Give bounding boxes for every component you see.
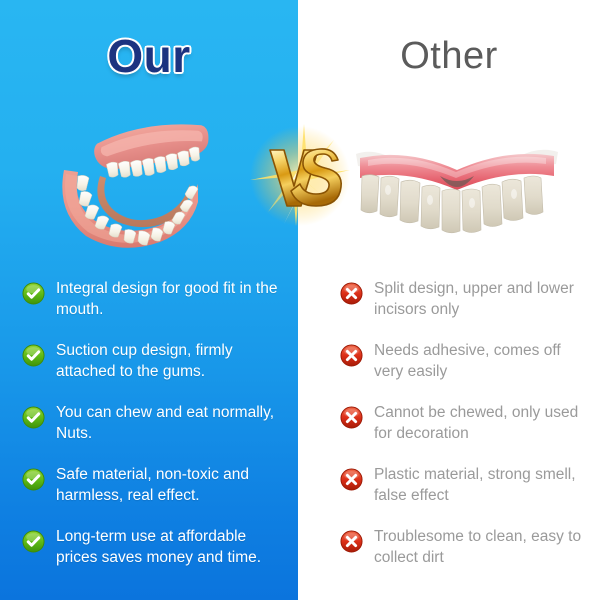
green-check-circle-icon [22,282,45,305]
list-item: Plastic material, strong smell, false ef… [340,458,588,520]
title-our: Our [107,29,190,83]
product-area-our [0,112,298,262]
green-check-circle-icon [22,530,45,553]
panel-our: Our [0,0,298,600]
full-denture-image [38,114,253,254]
green-check-circle-icon [22,468,45,491]
list-item-label: Cannot be chewed, only used for decorati… [374,396,588,444]
list-item: Safe material, non-toxic and harmless, r… [22,458,284,520]
red-cross-circle-icon [340,406,363,429]
list-item: Needs adhesive, comes off very easily [340,334,588,396]
green-check-circle-icon [22,344,45,367]
red-cross-circle-icon [340,530,363,553]
list-item-label: You can chew and eat normally, Nuts. [56,396,284,444]
list-item-label: Troublesome to clean, easy to collect di… [374,520,588,568]
list-item-label: Integral design for good fit in the mout… [56,272,284,320]
list-item-label: Suction cup design, firmly attached to t… [56,334,284,382]
list-item-label: Long-term use at affordable prices saves… [56,520,284,568]
list-item-label: Plastic material, strong smell, false ef… [374,458,588,506]
comparison-infographic: Our [0,0,600,600]
list-item: Cannot be chewed, only used for decorati… [340,396,588,458]
green-check-circle-icon [22,406,45,429]
list-item: You can chew and eat normally, Nuts. [22,396,284,458]
list-item-label: Split design, upper and lower incisors o… [374,272,588,320]
list-item: Suction cup design, firmly attached to t… [22,334,284,396]
red-cross-circle-icon [340,344,363,367]
list-item: Long-term use at affordable prices saves… [22,520,284,582]
benefit-list: Integral design for good fit in the mout… [0,272,298,582]
title-row-other: Other [298,0,600,112]
list-item: Troublesome to clean, easy to collect di… [340,520,588,582]
panel-other: Other [298,0,600,600]
red-cross-circle-icon [340,468,363,491]
drawback-list: Split design, upper and lower incisors o… [298,272,600,582]
list-item-label: Safe material, non-toxic and harmless, r… [56,458,284,506]
red-cross-circle-icon [340,282,363,305]
list-item: Integral design for good fit in the mout… [22,272,284,334]
product-area-other [298,112,600,262]
list-item-label: Needs adhesive, comes off very easily [374,334,588,382]
title-row-our: Our [0,0,298,112]
list-item: Split design, upper and lower incisors o… [340,272,588,334]
title-other: Other [400,35,498,78]
single-arch-veneer-image [348,128,566,240]
